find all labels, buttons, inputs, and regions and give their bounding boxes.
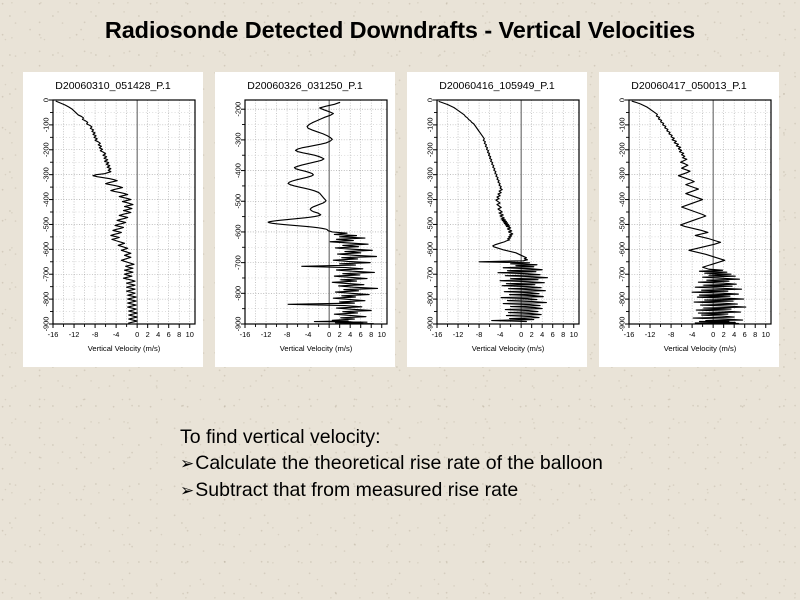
svg-text:-400: -400 [426, 192, 435, 207]
chart-card: D20060310_051428_P.1 -16-12-8-402468100-… [23, 72, 203, 367]
body-bullet-item: ➢Subtract that from measured rise rate [180, 477, 740, 504]
svg-text:8: 8 [561, 330, 565, 339]
svg-text:6: 6 [359, 330, 363, 339]
svg-text:0: 0 [426, 98, 435, 102]
svg-text:10: 10 [762, 330, 770, 339]
chart-row: D20060310_051428_P.1 -16-12-8-402468100-… [0, 72, 800, 368]
arrow-bullet-icon: ➢ [180, 454, 195, 474]
chart-plot: -16-12-8-402468100-100-200-300-400-500-6… [23, 96, 203, 369]
svg-text:-600: -600 [234, 225, 243, 240]
svg-text:2: 2 [530, 330, 534, 339]
svg-text:4: 4 [348, 330, 352, 339]
svg-text:-300: -300 [426, 167, 435, 182]
svg-text:Vertical Velocity (m/s): Vertical Velocity (m/s) [472, 344, 545, 353]
svg-text:-800: -800 [426, 292, 435, 307]
svg-text:0: 0 [618, 98, 627, 102]
chart-plot: -16-12-8-402468100-100-200-300-400-500-6… [407, 96, 587, 369]
body-bullet-label: Subtract that from measured rise rate [195, 479, 518, 501]
svg-text:-700: -700 [42, 267, 51, 282]
chart-title: D20060326_031250_P.1 [215, 80, 395, 92]
svg-text:-300: -300 [234, 132, 243, 147]
svg-text:0: 0 [711, 330, 715, 339]
svg-text:-400: -400 [618, 192, 627, 207]
svg-text:4: 4 [732, 330, 736, 339]
svg-text:-100: -100 [42, 117, 51, 132]
svg-text:-900: -900 [618, 317, 627, 332]
svg-text:8: 8 [369, 330, 373, 339]
arrow-bullet-icon: ➢ [180, 481, 195, 501]
svg-text:-8: -8 [92, 330, 99, 339]
svg-text:-500: -500 [42, 217, 51, 232]
svg-text:0: 0 [42, 98, 51, 102]
svg-text:-900: -900 [234, 317, 243, 332]
svg-text:0: 0 [519, 330, 523, 339]
svg-text:10: 10 [378, 330, 386, 339]
svg-text:-4: -4 [497, 330, 504, 339]
body-bullet-item: ➢Calculate the theoretical rise rate of … [180, 450, 740, 477]
svg-text:0: 0 [135, 330, 139, 339]
svg-text:-4: -4 [305, 330, 312, 339]
svg-text:-12: -12 [453, 330, 464, 339]
svg-text:-500: -500 [618, 217, 627, 232]
svg-text:2: 2 [722, 330, 726, 339]
svg-text:-4: -4 [113, 330, 120, 339]
svg-text:-800: -800 [234, 286, 243, 301]
svg-text:-500: -500 [426, 217, 435, 232]
page-title: Radiosonde Detected Downdrafts - Vertica… [0, 17, 800, 44]
slide-canvas: Radiosonde Detected Downdrafts - Vertica… [0, 0, 800, 600]
svg-text:Vertical Velocity (m/s): Vertical Velocity (m/s) [280, 344, 353, 353]
svg-text:-12: -12 [69, 330, 80, 339]
chart-title: D20060416_105949_P.1 [407, 80, 587, 92]
svg-text:-600: -600 [618, 242, 627, 257]
body-text-block: To find vertical velocity: ➢Calculate th… [180, 424, 740, 504]
svg-text:-200: -200 [234, 102, 243, 117]
body-bullet-label: Calculate the theoretical rise rate of t… [195, 452, 603, 474]
svg-text:-12: -12 [645, 330, 656, 339]
chart-title: D20060310_051428_P.1 [23, 80, 203, 92]
svg-text:-600: -600 [42, 242, 51, 257]
svg-text:-300: -300 [42, 167, 51, 182]
chart-plot: -16-12-8-40246810-200-300-400-500-600-70… [215, 96, 395, 369]
svg-text:-800: -800 [42, 292, 51, 307]
chart-card: D20060416_105949_P.1 -16-12-8-402468100-… [407, 72, 587, 367]
svg-text:-8: -8 [284, 330, 291, 339]
svg-text:-400: -400 [42, 192, 51, 207]
chart-plot: -16-12-8-402468100-100-200-300-400-500-6… [599, 96, 779, 369]
svg-text:-700: -700 [234, 255, 243, 270]
svg-text:-200: -200 [618, 142, 627, 157]
body-intro-line: To find vertical velocity: [180, 424, 740, 450]
svg-text:-800: -800 [618, 292, 627, 307]
chart-title: D20060417_050013_P.1 [599, 80, 779, 92]
svg-text:8: 8 [753, 330, 757, 339]
svg-text:6: 6 [743, 330, 747, 339]
svg-text:Vertical Velocity (m/s): Vertical Velocity (m/s) [664, 344, 737, 353]
svg-text:10: 10 [186, 330, 194, 339]
svg-text:-200: -200 [426, 142, 435, 157]
svg-text:6: 6 [551, 330, 555, 339]
svg-text:-700: -700 [426, 267, 435, 282]
chart-card: D20060326_031250_P.1 -16-12-8-40246810-2… [215, 72, 395, 367]
svg-text:2: 2 [146, 330, 150, 339]
svg-text:-100: -100 [618, 117, 627, 132]
svg-text:Vertical Velocity (m/s): Vertical Velocity (m/s) [88, 344, 161, 353]
svg-text:-900: -900 [42, 317, 51, 332]
svg-text:-8: -8 [476, 330, 483, 339]
svg-text:-600: -600 [426, 242, 435, 257]
svg-text:-400: -400 [234, 163, 243, 178]
svg-text:0: 0 [327, 330, 331, 339]
svg-text:10: 10 [570, 330, 578, 339]
svg-text:-200: -200 [42, 142, 51, 157]
svg-text:-12: -12 [261, 330, 272, 339]
svg-text:-8: -8 [668, 330, 675, 339]
svg-text:4: 4 [540, 330, 544, 339]
svg-text:8: 8 [177, 330, 181, 339]
svg-text:4: 4 [156, 330, 160, 339]
svg-text:-900: -900 [426, 317, 435, 332]
svg-text:-500: -500 [234, 194, 243, 209]
svg-text:-100: -100 [426, 117, 435, 132]
svg-text:-700: -700 [618, 267, 627, 282]
svg-text:-4: -4 [689, 330, 696, 339]
chart-card: D20060417_050013_P.1 -16-12-8-402468100-… [599, 72, 779, 367]
svg-text:2: 2 [338, 330, 342, 339]
svg-text:-300: -300 [618, 167, 627, 182]
svg-text:6: 6 [167, 330, 171, 339]
